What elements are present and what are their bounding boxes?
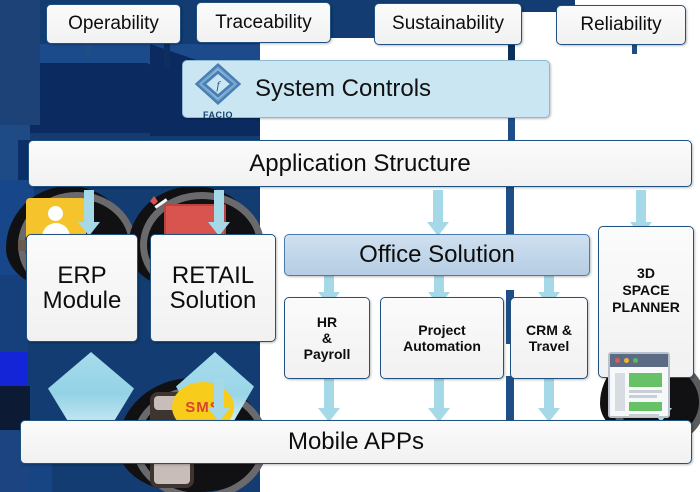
- arrow-down-crm-to-mobile: [538, 378, 560, 422]
- mobile-apps-box[interactable]: Mobile APPs: [20, 420, 692, 464]
- arrow-down-hr-to-mobile: [318, 378, 340, 422]
- project-automation-line1: Project: [403, 322, 481, 338]
- erp-module-box[interactable]: ERP Module: [26, 234, 138, 342]
- space-planner-line3: PLANNER: [612, 299, 680, 316]
- hr-payroll-line2: &: [304, 330, 351, 346]
- erp-module-label-line1: ERP: [43, 263, 122, 288]
- space-planner-line1: 3D: [612, 265, 680, 282]
- facio-logo-text: FACIO: [192, 110, 244, 120]
- retail-solution-label-line2: Solution: [170, 288, 257, 313]
- connector-traceability: [164, 40, 170, 68]
- chip-traceability[interactable]: Traceability: [196, 2, 331, 43]
- application-structure-box[interactable]: Application Structure: [28, 140, 692, 187]
- arrow-down-erp: [78, 190, 100, 236]
- retail-solution-box[interactable]: RETAIL Solution: [150, 234, 276, 342]
- arrow-down-project-to-mobile: [428, 378, 450, 422]
- diagram-canvas: SMS: [0, 0, 700, 492]
- project-automation-box[interactable]: Project Automation: [380, 297, 504, 379]
- hr-payroll-line1: HR: [304, 314, 351, 330]
- space-planner-line2: SPACE: [612, 282, 680, 299]
- chip-reliability-label: Reliability: [580, 14, 661, 36]
- project-automation-line2: Automation: [403, 338, 481, 354]
- application-structure-label: Application Structure: [249, 150, 470, 178]
- connector-system-to-appstructure: [508, 118, 515, 140]
- chip-sustainability-label: Sustainability: [392, 13, 504, 35]
- arrow-down-retail-to-mobile: [208, 378, 230, 422]
- system-controls-label: System Controls: [255, 62, 505, 116]
- arrow-down-retail: [208, 190, 230, 236]
- erp-module-label-line2: Module: [43, 288, 122, 313]
- hr-payroll-box[interactable]: HR & Payroll: [284, 297, 370, 379]
- hr-payroll-line3: Payroll: [304, 346, 351, 362]
- chip-traceability-label: Traceability: [215, 12, 311, 34]
- retail-solution-label-line1: RETAIL: [170, 263, 257, 288]
- mobile-apps-label: Mobile APPs: [288, 428, 424, 456]
- chip-operability-label: Operability: [68, 13, 159, 35]
- background-band-f: [0, 352, 28, 386]
- svg-text:f: f: [216, 78, 221, 92]
- office-solution-label: Office Solution: [359, 241, 515, 269]
- chip-reliability[interactable]: Reliability: [556, 5, 686, 45]
- background-band-a: [0, 0, 40, 125]
- office-solution-box[interactable]: Office Solution: [284, 234, 590, 276]
- chip-sustainability[interactable]: Sustainability: [374, 3, 522, 45]
- crm-travel-line1: CRM &: [526, 322, 572, 338]
- chip-operability[interactable]: Operability: [46, 4, 181, 44]
- arrow-down-office-solution: [427, 190, 449, 236]
- crm-travel-line2: Travel: [526, 338, 572, 354]
- browser-document-icon: [608, 352, 670, 418]
- crm-travel-box[interactable]: CRM & Travel: [510, 297, 588, 379]
- background-band-e: [0, 275, 28, 360]
- facio-logo-icon: f FACIO: [192, 62, 244, 120]
- connector-spine-to-mobile: [506, 376, 514, 420]
